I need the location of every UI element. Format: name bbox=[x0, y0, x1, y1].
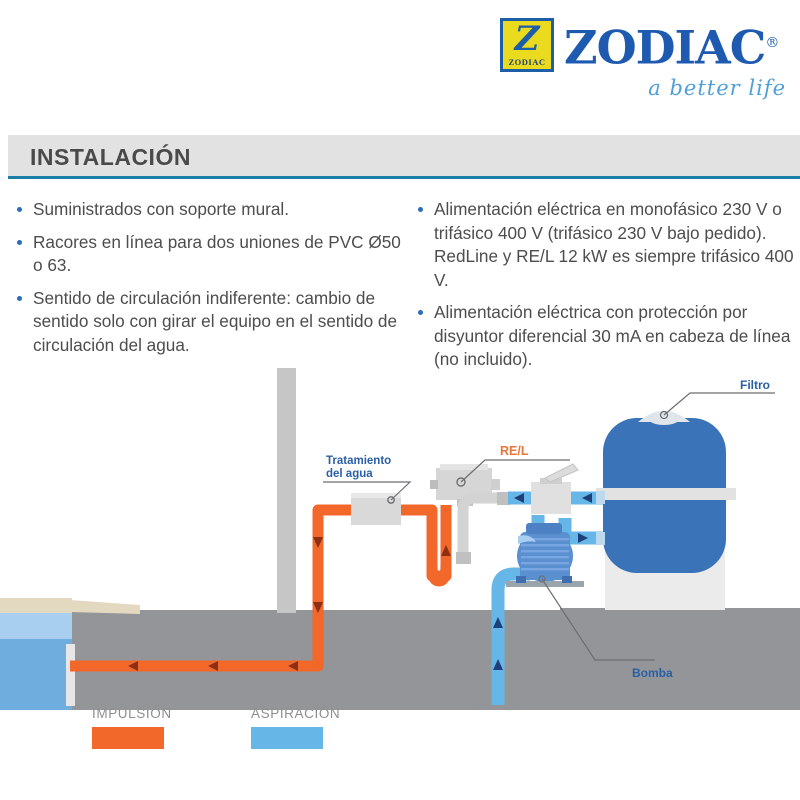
logo-wordmark-text: ZODIAC bbox=[564, 20, 765, 74]
legend-item-aspiracion: ASPIRACIÓN bbox=[251, 706, 340, 749]
pool-water-light bbox=[0, 613, 72, 639]
rel-heater-top bbox=[440, 464, 488, 470]
bullet-text: Racores en línea para dos uniones de PVC… bbox=[33, 232, 401, 276]
bullet-text: Suministrados con soporte mural. bbox=[33, 199, 289, 219]
legend-swatch-aspiracion bbox=[251, 727, 323, 749]
bullet-list-right: Alimentación eléctrica en monofásico 230… bbox=[415, 198, 795, 381]
callout-leader-filtro bbox=[664, 393, 775, 415]
page-title: INSTALACIÓN bbox=[30, 144, 191, 171]
zodiac-logo-icon: Z ZODIAC bbox=[500, 18, 554, 72]
callout-tratamiento-line1: Tratamiento bbox=[326, 455, 391, 467]
callout-tratamiento-line2: del agua bbox=[326, 468, 373, 480]
brand-logo: Z ZODIAC ZODIAC® a better life bbox=[500, 18, 790, 108]
bullet-dot-icon bbox=[17, 207, 22, 212]
pump-foot-left bbox=[516, 576, 526, 583]
logo-mark-word: ZODIAC bbox=[503, 57, 551, 67]
bullet-text: Sentido de circulación indiferente: camb… bbox=[33, 288, 397, 355]
bullet-dot-icon bbox=[17, 296, 22, 301]
pump-motor-top bbox=[526, 523, 562, 534]
ground-slab-right bbox=[560, 608, 800, 710]
bullet-list-left: Suministrados con soporte mural. Racores… bbox=[14, 198, 404, 366]
legend-label: ASPIRACIÓN bbox=[251, 706, 340, 721]
list-item: Suministrados con soporte mural. bbox=[14, 198, 404, 222]
pool-return-fitting bbox=[66, 644, 75, 706]
filter-port-left-lower bbox=[596, 532, 605, 545]
section-banner: INSTALACIÓN bbox=[8, 135, 800, 179]
filter-port-left-upper bbox=[596, 491, 605, 504]
rel-pipe-union bbox=[456, 552, 471, 564]
wall-column bbox=[277, 368, 296, 613]
logo-z-glyph: Z bbox=[503, 22, 551, 56]
pump-foot-right bbox=[562, 576, 572, 583]
logo-tagline: a better life bbox=[500, 76, 786, 100]
bullet-text: Alimentación eléctrica en monofásico 230… bbox=[434, 199, 794, 290]
pool-water bbox=[0, 639, 72, 710]
legend: IMPULSIÓN ASPIRACIÓN bbox=[0, 706, 800, 766]
legend-label: IMPULSIÓN bbox=[92, 706, 172, 721]
pool-deck-block bbox=[0, 598, 72, 613]
bullet-dot-icon bbox=[17, 240, 22, 245]
rel-heater-left-port bbox=[430, 480, 438, 489]
list-item: Sentido de circulación indiferente: camb… bbox=[14, 287, 404, 358]
logo-wordmark: ZODIAC® bbox=[564, 20, 778, 70]
rel-gray-pipe-elbow bbox=[463, 498, 498, 510]
legend-swatch-impulsion bbox=[92, 727, 164, 749]
multiport-valve-body bbox=[531, 482, 571, 514]
callout-bomba: Bomba bbox=[632, 666, 673, 680]
impulsion-pipe-return bbox=[400, 505, 446, 576]
bullet-dot-icon bbox=[418, 310, 423, 315]
legend-item-impulsion: IMPULSIÓN bbox=[92, 706, 172, 749]
callout-rel: RE/L bbox=[500, 444, 529, 458]
list-item: Alimentación eléctrica en monofásico 230… bbox=[415, 198, 795, 292]
filter-band bbox=[596, 488, 736, 500]
rel-heater-right-port bbox=[491, 479, 500, 490]
logo-row: Z ZODIAC ZODIAC® bbox=[500, 18, 790, 72]
list-item: Racores en línea para dos uniones de PVC… bbox=[14, 231, 404, 278]
bullet-text: Alimentación eléctrica con protección po… bbox=[434, 302, 790, 369]
bullet-dot-icon bbox=[418, 207, 423, 212]
callout-filtro: Filtro bbox=[740, 378, 770, 392]
registered-mark: ® bbox=[765, 35, 778, 51]
